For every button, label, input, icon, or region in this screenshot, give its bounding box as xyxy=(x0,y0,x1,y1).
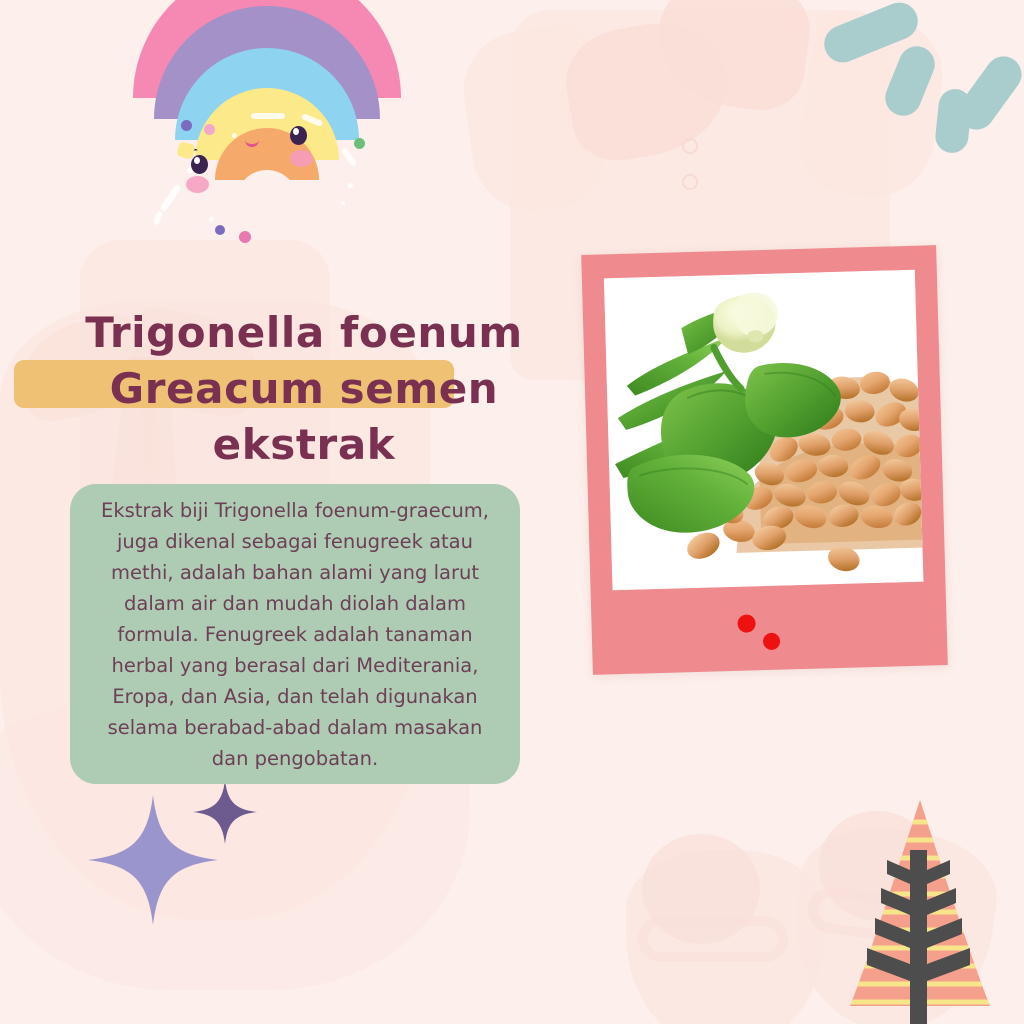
page-title: Trigonella foenum Greacum semen ekstrak xyxy=(74,305,534,473)
confetti-dot xyxy=(239,231,251,243)
photo-sticker-dot xyxy=(763,633,780,650)
description-text: Ekstrak biji Trigonella foenum-graecum, … xyxy=(98,495,492,774)
rainbow-blush-icon xyxy=(290,150,313,167)
confetti-dot xyxy=(181,120,192,131)
teal-dash-icon xyxy=(880,41,940,121)
fenugreek-photo-art xyxy=(604,270,924,591)
confetti-dot xyxy=(215,225,225,235)
striped-pine-tree-icon xyxy=(825,798,1015,1024)
rainbow-eye-icon xyxy=(191,155,208,174)
rainbow-blush-icon xyxy=(186,176,209,193)
description-card: Ekstrak biji Trigonella foenum-graecum, … xyxy=(70,484,520,784)
polaroid-photo-frame xyxy=(581,245,948,675)
title-line-2: Greacum semen xyxy=(74,361,534,417)
poster-canvas: Trigonella foenum Greacum semen ekstrak … xyxy=(0,0,1024,1024)
sparkle-icon-small xyxy=(193,780,257,844)
teal-dash-icon xyxy=(934,87,974,154)
confetti-dot xyxy=(354,138,365,149)
fenugreek-photo xyxy=(604,270,924,591)
photo-sticker-dot xyxy=(737,614,755,632)
rainbow-eye-icon xyxy=(290,126,307,145)
confetti-dot xyxy=(204,124,215,135)
title-line-1: Trigonella foenum xyxy=(74,305,534,361)
watermark-baby-shoe xyxy=(620,820,830,1024)
title-line-3: ekstrak xyxy=(74,417,534,473)
kawaii-rainbow-icon xyxy=(133,107,401,232)
